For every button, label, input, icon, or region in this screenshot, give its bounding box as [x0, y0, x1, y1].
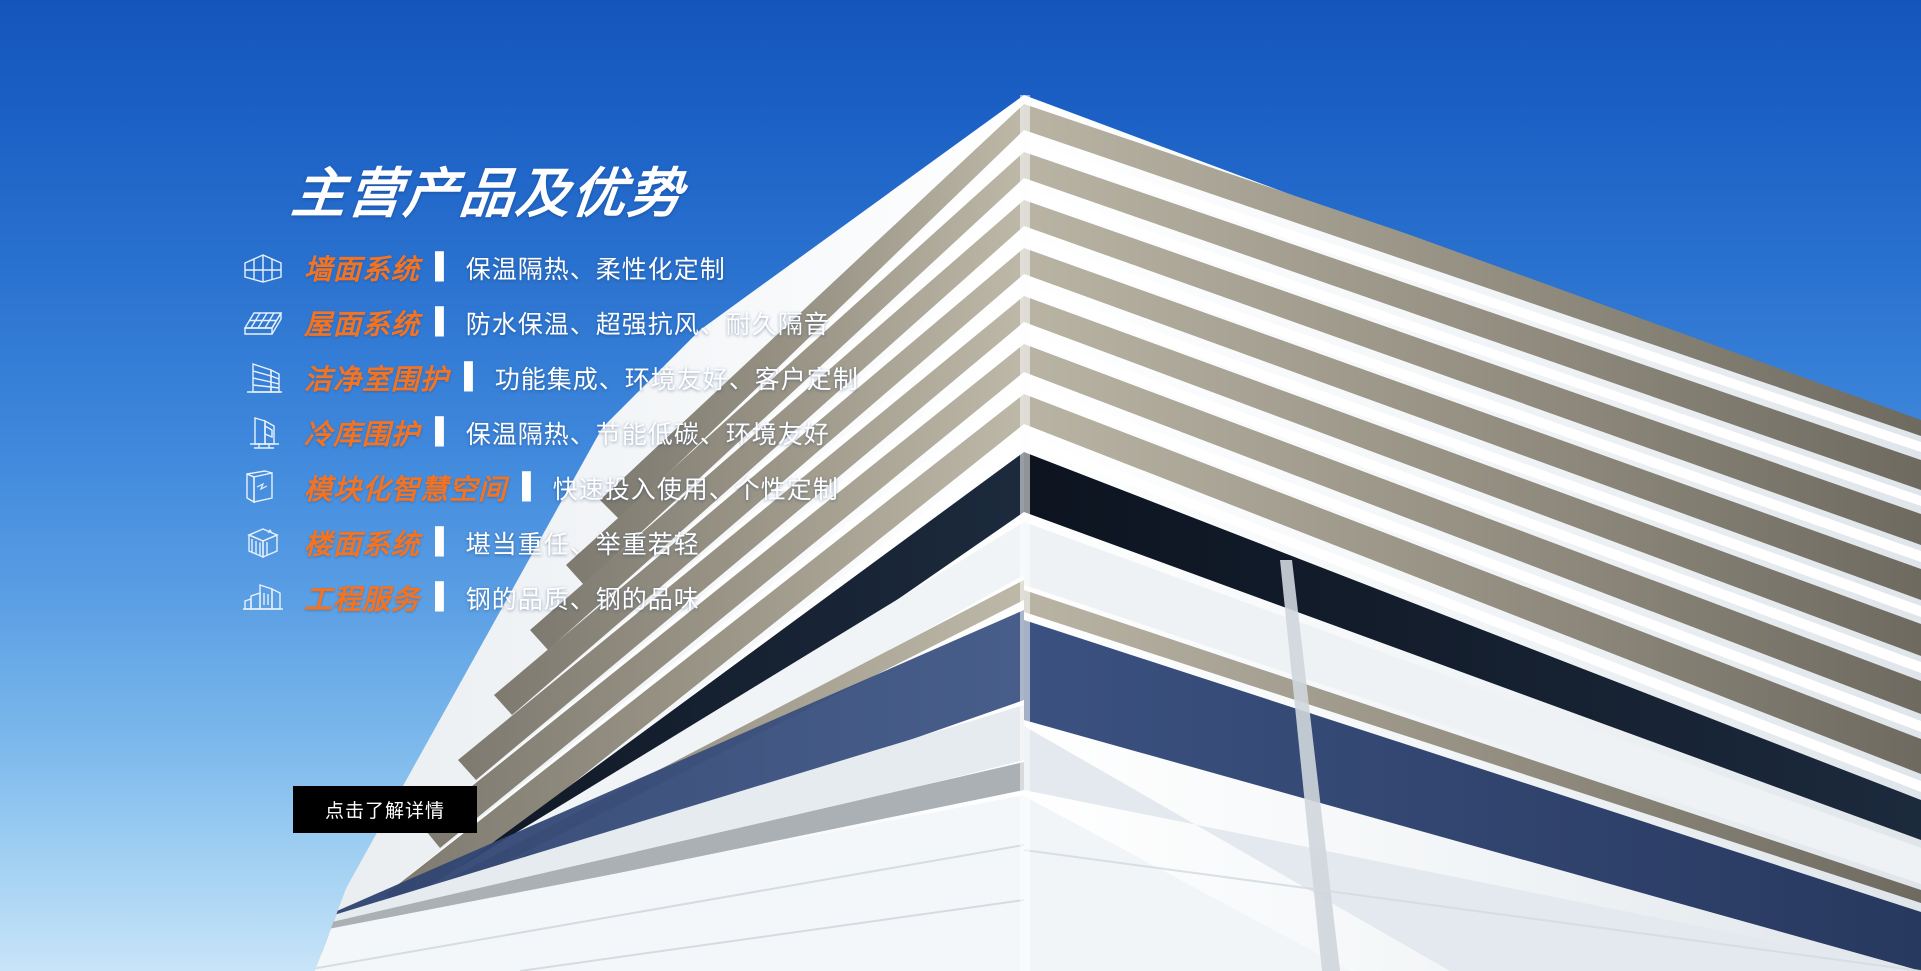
- feature-description: 防水保温、超强抗风、耐久隔音: [466, 305, 830, 341]
- feature-description: 快速投入使用、个性定制: [553, 470, 839, 506]
- separator-bar: ▌: [522, 474, 540, 499]
- feature-title: 墙面系统: [304, 248, 420, 288]
- cleanroom-building-icon: [236, 358, 290, 398]
- page-title: 主营产品及优势: [289, 167, 687, 221]
- wall-panel-icon: [236, 248, 290, 288]
- feature-title: 冷库围护: [304, 413, 420, 453]
- learn-more-button[interactable]: 点击了解详情: [293, 786, 477, 833]
- separator-bar: ▌: [435, 419, 453, 444]
- feature-title: 屋面系统: [304, 303, 420, 343]
- list-item[interactable]: 模块化智慧空间 ▌ 快速投入使用、个性定制: [236, 460, 1136, 515]
- feature-title: 工程服务: [304, 578, 420, 618]
- separator-bar: ▌: [435, 529, 453, 554]
- feature-title: 楼面系统: [304, 523, 420, 563]
- list-item[interactable]: 工程服务 ▌ 钢的品质、钢的品味: [236, 570, 1136, 625]
- list-item[interactable]: 洁净室围护 ▌ 功能集成、环境友好、客户定制: [236, 350, 1136, 405]
- modular-cube-icon: [236, 468, 290, 508]
- coldstorage-icon: [236, 413, 290, 453]
- list-item[interactable]: 冷库围护 ▌ 保温隔热、节能低碳、环境友好: [236, 405, 1136, 460]
- separator-bar: ▌: [435, 584, 453, 609]
- feature-list: 墙面系统 ▌ 保温隔热、柔性化定制: [236, 240, 1136, 625]
- separator-bar: ▌: [435, 254, 453, 279]
- feature-description: 堪当重任、举重若轻: [466, 525, 700, 561]
- banner-content: 主营产品及优势 墙面系统 ▌ 保温隔热、柔性化定制: [236, 0, 1136, 971]
- roof-panel-icon: [236, 303, 290, 343]
- list-item[interactable]: 屋面系统 ▌ 防水保温、超强抗风、耐久隔音: [236, 295, 1136, 350]
- list-item[interactable]: 楼面系统 ▌ 堪当重任、举重若轻: [236, 515, 1136, 570]
- feature-title: 洁净室围护: [304, 358, 449, 398]
- feature-description: 钢的品质、钢的品味: [466, 580, 700, 616]
- feature-title: 模块化智慧空间: [304, 468, 507, 508]
- feature-description: 保温隔热、柔性化定制: [466, 250, 726, 286]
- separator-bar: ▌: [464, 364, 482, 389]
- product-advantages-banner: 主营产品及优势 墙面系统 ▌ 保温隔热、柔性化定制: [0, 0, 1921, 971]
- floor-deck-icon: [236, 523, 290, 563]
- list-item[interactable]: 墙面系统 ▌ 保温隔热、柔性化定制: [236, 240, 1136, 295]
- feature-description: 功能集成、环境友好、客户定制: [495, 360, 859, 396]
- feature-description: 保温隔热、节能低碳、环境友好: [466, 415, 830, 451]
- engineering-service-icon: [236, 578, 290, 618]
- separator-bar: ▌: [435, 309, 453, 334]
